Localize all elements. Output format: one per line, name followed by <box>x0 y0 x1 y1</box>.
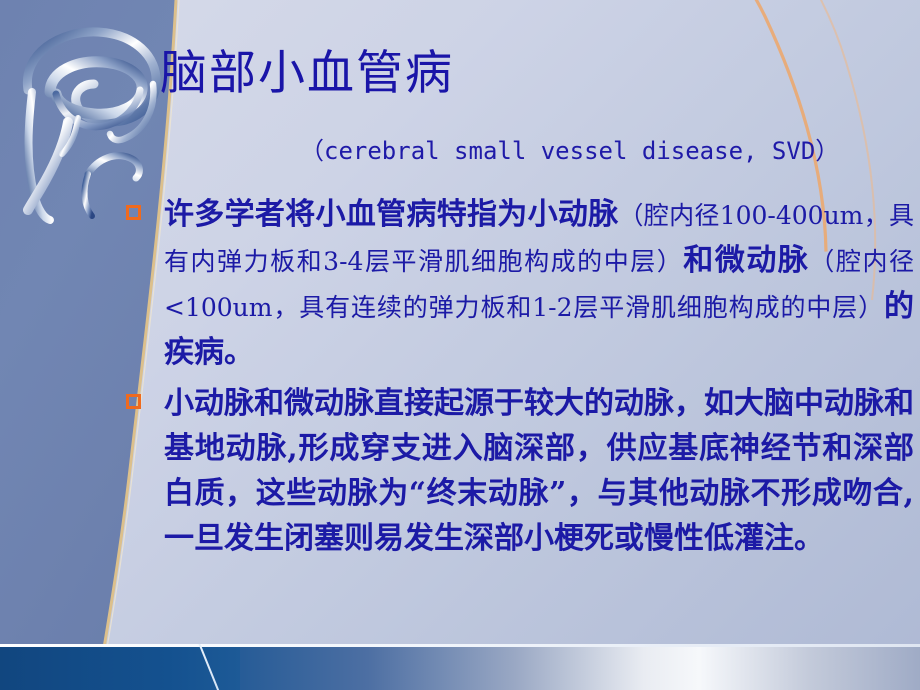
bullet-text-2: 小动脉和微动脉直接起源于较大的动脉，如大脑中动脉和基地动脉,形成穿支进入脑深部，… <box>164 381 914 561</box>
seg-bold-1b: 和微动脉 <box>683 243 809 278</box>
bullet-square-icon <box>126 394 141 409</box>
seg-bold-1a: 许多学者将小血管病特指为小动脉 <box>164 197 619 232</box>
seg-bold-2a: 小动脉和微动脉直接起源于较大的动脉，如大脑中动脉和基地动脉,形成穿支进入脑深部，… <box>164 386 914 556</box>
slide-canvas: 脑部小血管病 （cerebral small vessel disease, S… <box>0 0 920 690</box>
bullet-list: 许多学者将小血管病特指为小动脉（腔内径100-400um，具有内弹力板和3-4层… <box>124 192 914 567</box>
slide-title: 脑部小血管病 <box>160 48 760 101</box>
band-diagonal-line <box>196 644 336 690</box>
list-item: 许多学者将小血管病特指为小动脉（腔内径100-400um，具有内弹力板和3-4层… <box>124 192 914 375</box>
bullet-square-icon <box>126 205 141 220</box>
list-item: 小动脉和微动脉直接起源于较大的动脉，如大脑中动脉和基地动脉,形成穿支进入脑深部，… <box>124 381 914 561</box>
bullet-text-1: 许多学者将小血管病特指为小动脉（腔内径100-400um，具有内弹力板和3-4层… <box>164 192 914 375</box>
bottom-decorative-band <box>0 644 920 690</box>
slide-subtitle: （cerebral small vessel disease, SVD） <box>300 138 920 164</box>
